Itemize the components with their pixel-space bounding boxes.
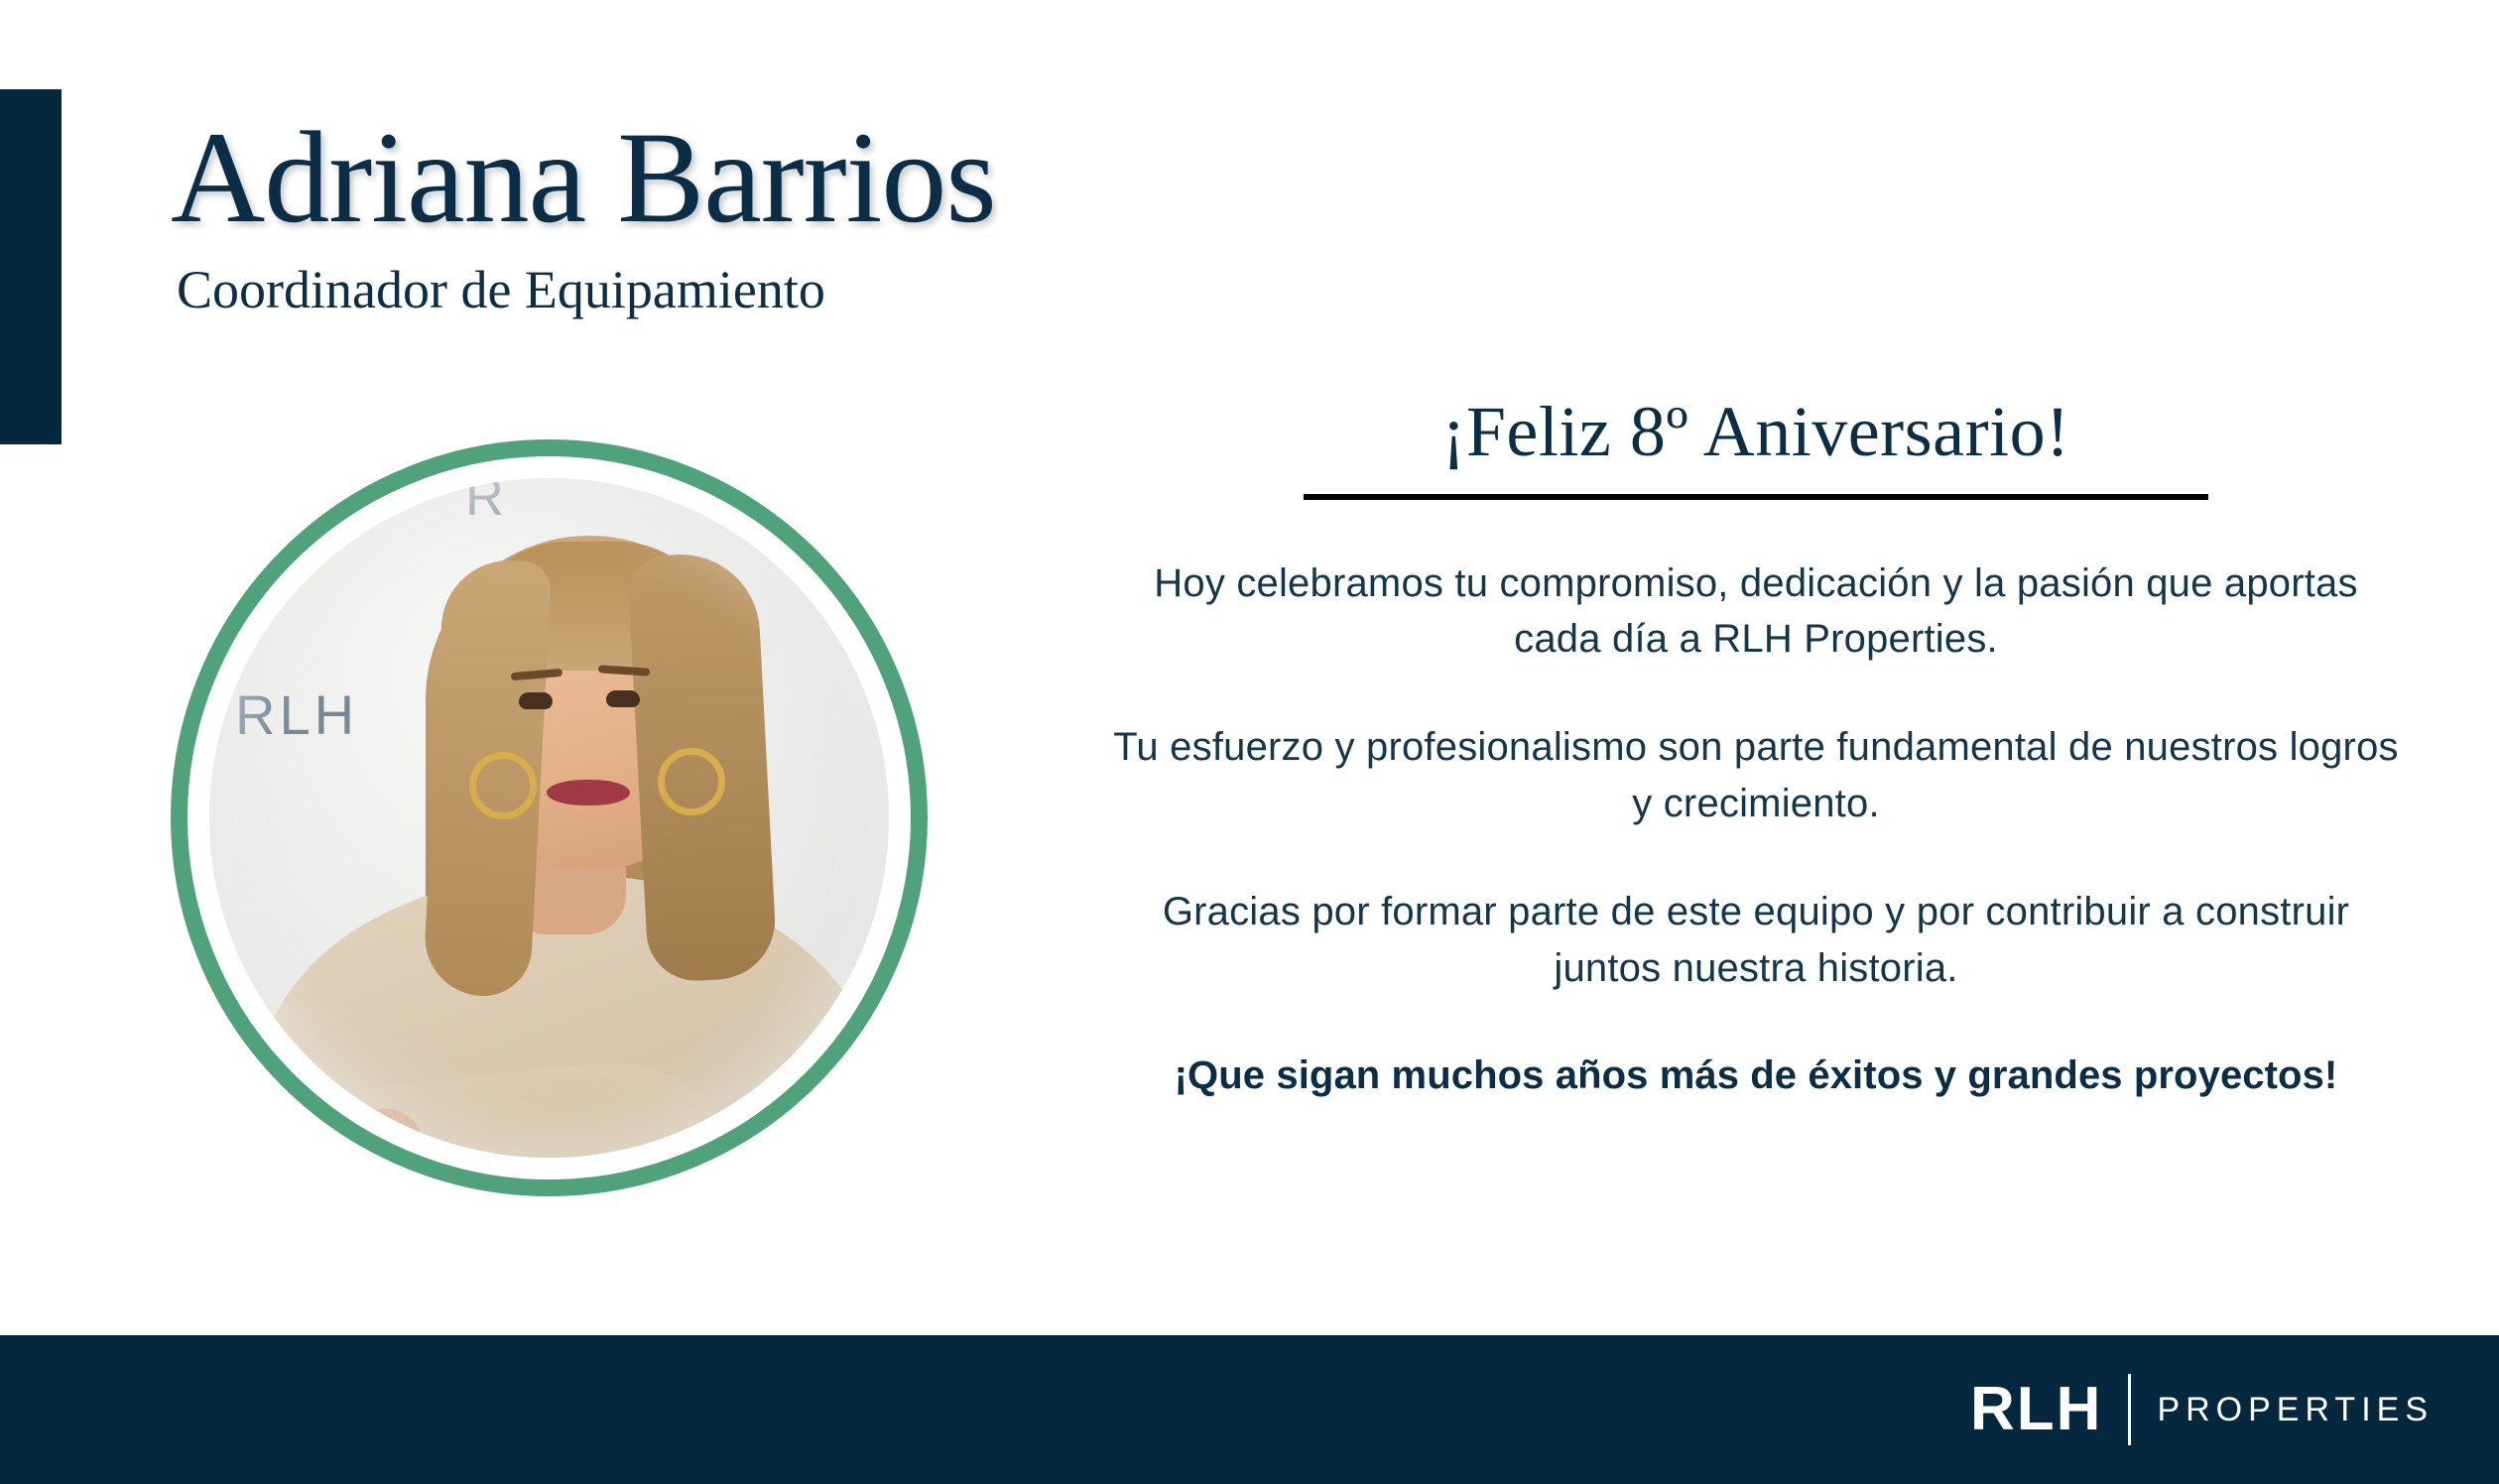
paragraph-spacer xyxy=(1066,996,2445,1048)
person-role: Coordinador de Equipamiento xyxy=(177,261,1560,319)
anniversary-heading: ¡Feliz 8º Aniversario! xyxy=(1066,395,2445,470)
lips-shape xyxy=(547,780,630,805)
earring-right-icon xyxy=(658,748,725,815)
logo-divider xyxy=(2128,1374,2131,1445)
earring-left-icon xyxy=(469,752,537,819)
paragraph-spacer xyxy=(1066,832,2445,884)
logo-properties-text: PROPERTIES xyxy=(2157,1393,2434,1426)
logo-rlh-text: RLH xyxy=(1970,1379,2102,1440)
page-title: Adriana Barrios xyxy=(171,109,1560,245)
message-paragraph: Hoy celebramos tu compromiso, dedicación… xyxy=(1106,556,2406,669)
person-figure xyxy=(209,478,889,1158)
paragraph-spacer xyxy=(1066,668,2445,719)
message-column: ¡Feliz 8º Aniversario! Hoy celebramos tu… xyxy=(1066,395,2445,1103)
message-paragraph: Gracias por formar parte de este equipo … xyxy=(1106,884,2406,997)
message-body: Hoy celebramos tu compromiso, dedicación… xyxy=(1066,556,2445,1104)
message-paragraph: Tu esfuerzo y profesionalismo son parte … xyxy=(1106,719,2406,832)
message-closing: ¡Que sigan muchos años más de éxitos y g… xyxy=(1091,1048,2421,1103)
brand-logo: RLH PROPERTIES xyxy=(1970,1374,2434,1445)
left-accent-bar xyxy=(0,89,62,444)
eye-right xyxy=(606,690,640,707)
avatar: R RLH RLH RTIES L.H xyxy=(171,439,928,1196)
header-block: Adriana Barrios Coordinador de Equipamie… xyxy=(171,109,1560,320)
avatar-image: R RLH RLH RTIES L.H xyxy=(209,478,889,1158)
eye-left xyxy=(519,692,553,709)
slide-canvas: Adriana Barrios Coordinador de Equipamie… xyxy=(0,0,2499,1484)
footer-bar: RLH PROPERTIES xyxy=(0,1335,2499,1484)
heading-underline xyxy=(1304,494,2208,500)
